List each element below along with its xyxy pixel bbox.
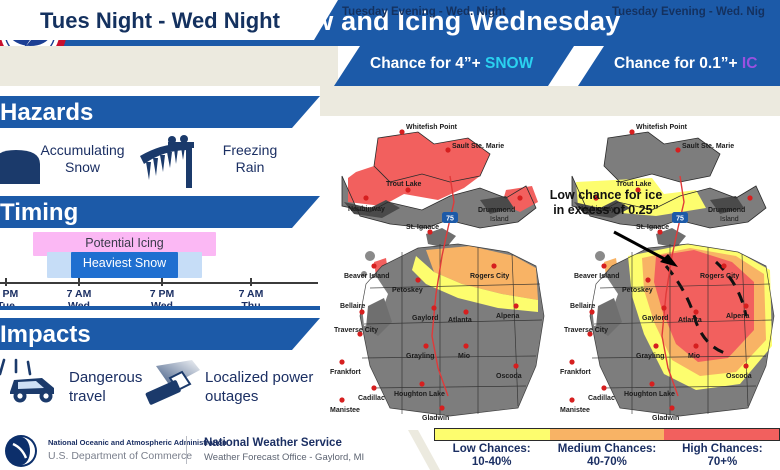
svg-text:Rogers City: Rogers City xyxy=(700,273,739,280)
legend-range: 40-70% xyxy=(549,456,664,469)
ice-panel-header: Chance for 0.1”+ IC xyxy=(578,46,780,86)
noaa-department-line: U.S. Department of Commerce xyxy=(48,450,192,462)
legend-swatch-high xyxy=(664,429,779,440)
svg-text:Bellaire: Bellaire xyxy=(340,303,365,310)
legend-swatch-medium xyxy=(550,429,665,440)
svg-text:Gladwin: Gladwin xyxy=(422,415,449,422)
svg-text:Sault Ste. Marie: Sault Ste. Marie xyxy=(682,143,734,150)
ice-panel-label: Chance for 0.1”+ IC xyxy=(614,55,757,73)
svg-text:Manistee: Manistee xyxy=(560,407,590,414)
svg-text:Alpena: Alpena xyxy=(496,313,519,320)
svg-text:Petoskey: Petoskey xyxy=(622,287,653,294)
tick-time: 7 PM xyxy=(132,288,192,300)
legend-labels: Low Chances: 10-40% Medium Chances: 40-7… xyxy=(434,443,780,469)
hazard-label-freezing-rain: Freezing Rain xyxy=(207,142,293,176)
forecast-period-label: Tues Night - Wed Night xyxy=(40,8,280,34)
nws-office: Weather Forecast Office - Gaylord, MI xyxy=(204,452,364,463)
ice-keyword: IC xyxy=(742,55,758,72)
period-banner-bg xyxy=(0,46,338,86)
svg-text:Atlanta: Atlanta xyxy=(448,317,472,324)
ice-panel-prefix: Chance for 0.1”+ xyxy=(614,55,742,72)
impacts-heading: Impacts xyxy=(0,321,91,349)
svg-text:Cadillac: Cadillac xyxy=(358,395,385,402)
svg-text:Mio: Mio xyxy=(458,353,470,360)
svg-text:Whitefish Point: Whitefish Point xyxy=(636,124,688,131)
svg-text:Traverse City: Traverse City xyxy=(564,327,608,334)
svg-text:Rogers City: Rogers City xyxy=(470,273,509,280)
svg-text:Grayling: Grayling xyxy=(406,353,434,360)
svg-text:Beaver Island: Beaver Island xyxy=(344,273,390,280)
legend-range: 70+% xyxy=(665,456,780,469)
snow-keyword: SNOW xyxy=(485,55,533,72)
ice-map-period: Tuesday Evening - Wed. Nig xyxy=(612,6,765,18)
svg-text:Oscoda: Oscoda xyxy=(726,373,752,380)
legend-entry-medium: Medium Chances: 40-70% xyxy=(549,443,664,469)
ice-annotation: Low chance for ice in excess of 0.25” xyxy=(546,188,666,218)
svg-text:Naubinway: Naubinway xyxy=(348,206,385,213)
timeline-tick xyxy=(78,278,80,286)
probability-legend: Low Chances: 10-40% Medium Chances: 40-7… xyxy=(434,428,780,470)
svg-text:Gaylord: Gaylord xyxy=(412,315,438,322)
svg-text:Grayling: Grayling xyxy=(636,353,664,360)
map-period-band xyxy=(320,86,780,116)
svg-text:Gaylord: Gaylord xyxy=(642,315,668,322)
svg-text:Oscoda: Oscoda xyxy=(496,373,522,380)
tick-time: 7 PM xyxy=(0,288,36,300)
footer-divider xyxy=(186,436,187,464)
timing-bar-snow-label: Heaviest Snow xyxy=(71,256,178,270)
svg-text:Manistee: Manistee xyxy=(330,407,360,414)
svg-text:Whitefish Point: Whitefish Point xyxy=(406,124,458,131)
svg-text:Drummond: Drummond xyxy=(708,207,745,214)
legend-entry-high: High Chances: 70+% xyxy=(665,443,780,469)
svg-text:Frankfort: Frankfort xyxy=(330,369,361,376)
svg-text:Petoskey: Petoskey xyxy=(392,287,423,294)
legend-name: High Chances: xyxy=(665,443,780,456)
hazard-label-snow: Accumulating Snow xyxy=(30,142,135,176)
icy-power-line-icon xyxy=(138,134,204,190)
legend-range: 10-40% xyxy=(434,456,549,469)
noaa-agency-line: National Oceanic and Atmospheric Adminis… xyxy=(48,438,227,447)
svg-text:Sault Ste. Marie: Sault Ste. Marie xyxy=(452,143,504,150)
timeline-tick xyxy=(5,278,7,286)
svg-text:Island: Island xyxy=(720,216,739,223)
svg-text:Houghton Lake: Houghton Lake xyxy=(624,391,675,398)
snow-panel-header: Chance for 4”+ SNOW xyxy=(334,46,574,86)
tick-time: 7 AM xyxy=(49,288,109,300)
svg-text:Atlanta: Atlanta xyxy=(678,317,702,324)
svg-text:Drummond: Drummond xyxy=(478,207,515,214)
svg-text:Trout Lake: Trout Lake xyxy=(386,181,422,188)
snow-panel-label: Chance for 4”+ SNOW xyxy=(370,55,533,73)
timeline-tick xyxy=(161,278,163,286)
legend-swatch-low xyxy=(435,429,550,440)
nws-name: National Weather Service xyxy=(204,437,342,449)
svg-text:Alpena: Alpena xyxy=(726,313,749,320)
hazards-heading: Hazards xyxy=(0,99,93,127)
svg-text:Island: Island xyxy=(490,216,509,223)
snow-map-svg: 75 Whitefish Point Sault Ste. Marie Trou… xyxy=(330,116,570,426)
svg-text:Cadillac: Cadillac xyxy=(588,395,615,402)
snow-panel-prefix: Chance for 4”+ xyxy=(370,55,485,72)
flashlight-icon xyxy=(140,360,210,408)
legend-color-ramp xyxy=(434,428,780,441)
timeline-axis xyxy=(0,282,318,284)
svg-text:Gladwin: Gladwin xyxy=(652,415,679,422)
timing-heading: Timing xyxy=(0,199,78,227)
timeline-tick xyxy=(250,278,252,286)
highway-marker-label: 75 xyxy=(446,216,454,223)
legend-name: Medium Chances: xyxy=(549,443,664,456)
impact-label-power: Localized power outages xyxy=(205,368,320,406)
car-crash-icon xyxy=(0,358,64,404)
timing-bar-icing-label: Potential Icing xyxy=(33,236,216,250)
section-header-hazards: Hazards xyxy=(0,96,320,128)
section-header-timing: Timing xyxy=(0,196,320,228)
annotation-arrow-icon xyxy=(612,228,692,278)
legend-entry-low: Low Chances: 10-40% xyxy=(434,443,549,469)
weather-briefing-graphic: Accumulating Snow and Icing Wednesday WE… xyxy=(0,0,780,470)
svg-text:St. Ignace: St. Ignace xyxy=(406,224,439,231)
section-divider xyxy=(0,306,320,310)
svg-text:75: 75 xyxy=(676,216,684,223)
svg-text:Mio: Mio xyxy=(688,353,700,360)
timing-bar-heaviest-snow: Heaviest Snow xyxy=(71,252,178,278)
section-header-impacts: Impacts xyxy=(0,318,320,350)
noaa-logo xyxy=(4,434,38,468)
svg-text:Bellaire: Bellaire xyxy=(570,303,595,310)
timing-chart: Potential Icing Heaviest Snow 7 PM Tue 7… xyxy=(0,228,320,306)
svg-text:Houghton Lake: Houghton Lake xyxy=(394,391,445,398)
snow-probability-map[interactable]: 75 Whitefish Point Sault Ste. Marie Trou… xyxy=(330,116,570,426)
snow-map-period: Tuesday Evening - Wed. Night xyxy=(342,6,506,18)
svg-text:Traverse City: Traverse City xyxy=(334,327,378,334)
svg-text:Frankfort: Frankfort xyxy=(560,369,591,376)
svg-text:Trout Lake: Trout Lake xyxy=(616,181,652,188)
legend-name: Low Chances: xyxy=(434,443,549,456)
tick-time: 7 AM xyxy=(221,288,281,300)
